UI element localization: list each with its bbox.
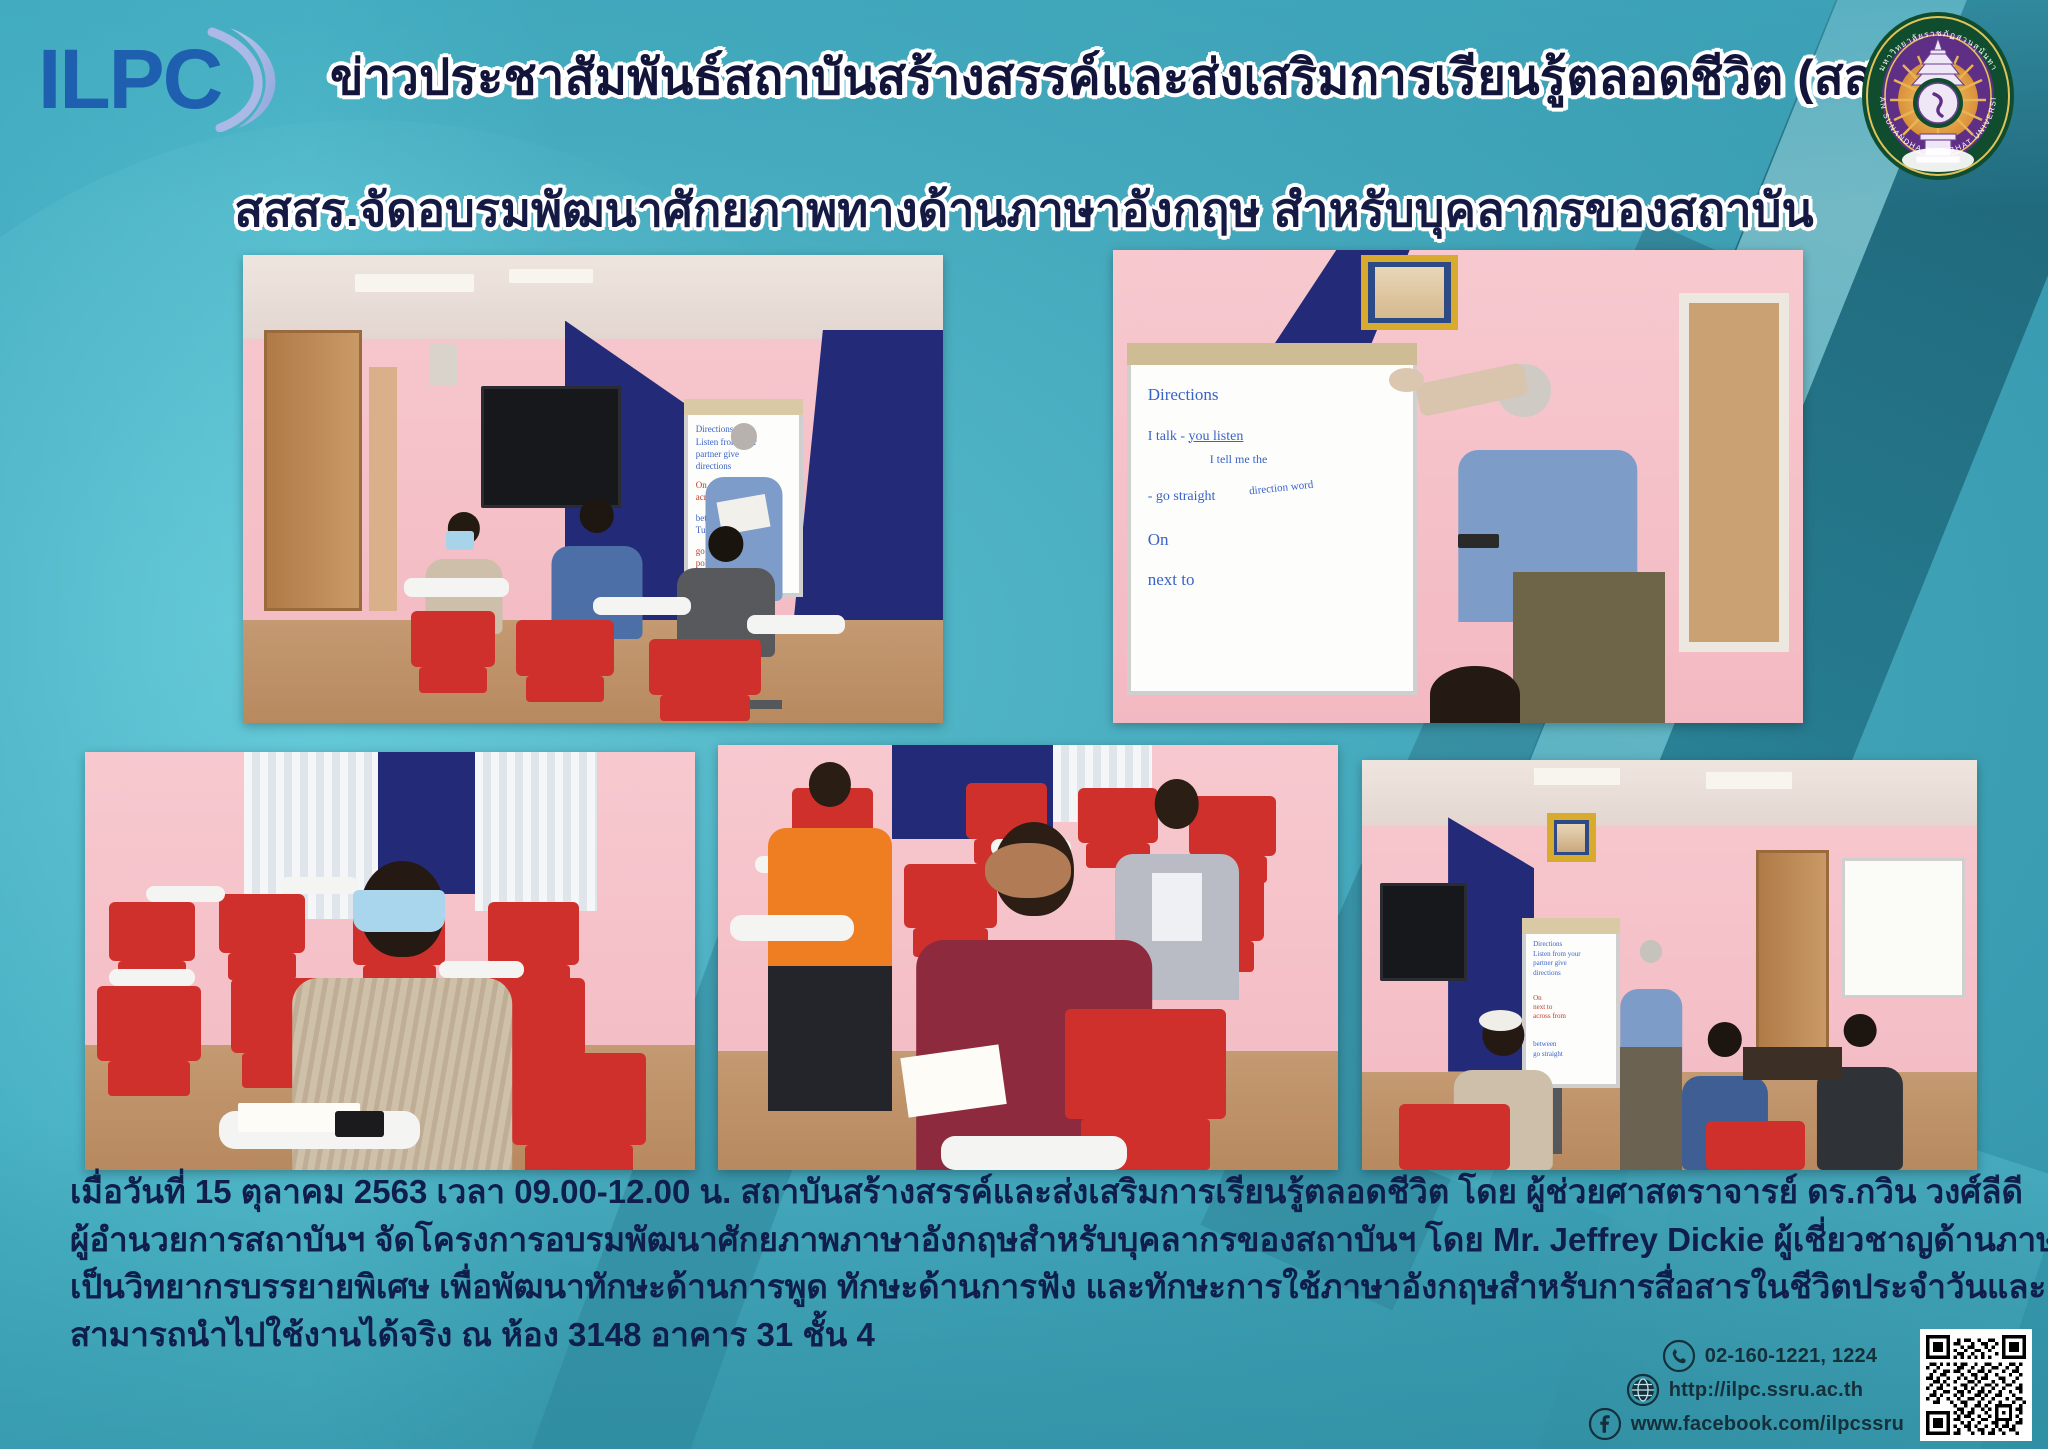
poster-header: ILPC ILPC ข่าวประชาสัมพันธ์สถาบันสร้างสร… — [0, 0, 2048, 232]
website-url[interactable]: http://ilpc.ssru.ac.th — [1669, 1380, 1863, 1401]
caption-line-3: เป็นวิทยากรบรรยายพิเศษ เพื่อพัฒนาทักษะด้… — [70, 1263, 1978, 1311]
page-subtitle: สสสร.จัดอบรมพัฒนาศักยภาพทางด้านภาษาอังกฤ… — [0, 172, 2048, 247]
contact-phone-row: 02-160-1221, 1224 — [1588, 1339, 1904, 1373]
contact-website-row: http://ilpc.ssru.ac.th — [1588, 1373, 1904, 1407]
facebook-icon — [1588, 1407, 1622, 1441]
contact-list: 02-160-1221, 1224 http:// — [1588, 1339, 1904, 1441]
phone-number[interactable]: 02-160-1221, 1224 — [1705, 1346, 1877, 1367]
caption-line-1: เมื่อวันที่ 15 ตุลาคม 2563 เวลา 09.00-12… — [70, 1168, 1978, 1216]
qr-code[interactable] — [1920, 1329, 2032, 1441]
photo-participants-group — [718, 745, 1338, 1170]
facebook-url[interactable]: www.facebook.com/ilpcssru — [1631, 1414, 1904, 1435]
photo-participant-notes — [85, 752, 695, 1170]
photo-classroom-wide: DirectionsListen from yourpartner givedi… — [1362, 760, 1977, 1170]
footer-contact-block: 02-160-1221, 1224 http:// — [1588, 1329, 2032, 1441]
ilpc-logo-text: ILPC — [38, 32, 222, 126]
globe-icon — [1626, 1373, 1660, 1407]
ilpc-logo: ILPC ILPC — [34, 22, 324, 132]
caption-line-2: ผู้อำนวยการสถาบันฯ จัดโครงการอบรมพัฒนาศั… — [70, 1216, 1978, 1264]
photo-classroom-overview: DirectionsListen from yourpartner givedi… — [243, 255, 943, 723]
contact-facebook-row: www.facebook.com/ilpcssru — [1588, 1407, 1904, 1441]
photo-instructor-flipchart: Directions I talk - you listen I tell me… — [1113, 250, 1803, 723]
phone-icon — [1662, 1339, 1696, 1373]
page-title: ข่าวประชาสัมพันธ์สถาบันสร้างสรรค์และส่งเ… — [330, 38, 1820, 116]
poster-canvas: ILPC ILPC ข่าวประชาสัมพันธ์สถาบันสร้างสร… — [0, 0, 2048, 1449]
ssru-university-seal: มหาวิทยาลัยราชภัฏสวนสุนันทา SUAN SUNANDH… — [1850, 8, 2026, 184]
